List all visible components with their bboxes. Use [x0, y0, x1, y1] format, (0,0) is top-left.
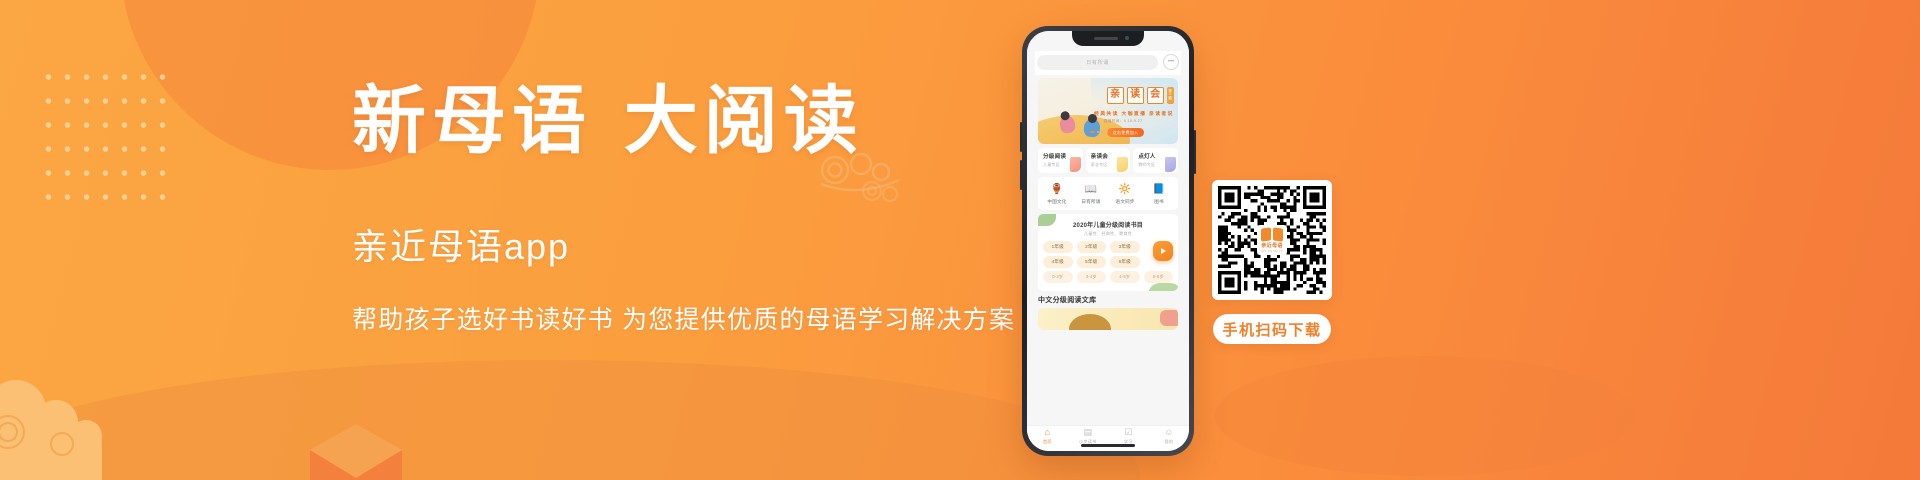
app-search-row: 日有所诵 ••• [1035, 51, 1181, 75]
brand-logo: 亲近母语 QIN JIN MU YU [1257, 225, 1287, 255]
list-icon: ▤ [1083, 428, 1092, 437]
phone-screen: 日有所诵 ••• 亲 读 会 第三期 经典共读 大咖直播 亲读者说 直 [1027, 31, 1189, 451]
checklist-icon: ☑ [1124, 428, 1132, 437]
library-card[interactable] [1038, 308, 1178, 330]
brand-name: 亲近母语 [1261, 242, 1283, 249]
tab-label: 我的 [1164, 439, 1173, 445]
phone-mockup: 日有所诵 ••• 亲 读 会 第三期 经典共读 大咖直播 亲读者说 直 [1022, 26, 1194, 456]
app-banner[interactable]: 亲 读 会 第三期 经典共读 大咖直播 亲读者说 直播时间：9.16-9.27 … [1038, 78, 1178, 144]
category-card-teacher[interactable]: 点灯人 教师专区 [1133, 148, 1178, 173]
grade-tag[interactable]: 5年级 [1077, 256, 1107, 268]
quick-icon-books[interactable]: 📘 图书 [1142, 183, 1176, 205]
decor-dot-grid [36, 62, 172, 210]
category-card-parent-club[interactable]: 亲读会 家长专区 [1086, 148, 1131, 173]
quick-icon-label: 语文同步 [1115, 199, 1134, 205]
tab-home[interactable]: ⌂ 首页 [1027, 428, 1068, 445]
sync-icon: 🔆 [1119, 183, 1132, 196]
age-tag[interactable]: 3-4岁 [1077, 271, 1107, 283]
grade-tag[interactable]: 3年级 [1110, 241, 1140, 253]
quick-icon-row: 🏺 中国文化 📖 日有所诵 🔆 语文同步 📘 图书 [1038, 177, 1178, 210]
banner-char-1: 亲 [1107, 87, 1124, 104]
banner-title: 亲 读 会 第三期 [1107, 87, 1174, 104]
tab-label: 首页 [1043, 439, 1052, 445]
home-icon: ⌂ [1045, 428, 1050, 437]
grade-tag[interactable]: 4年级 [1043, 256, 1073, 268]
age-row: 0-3岁 3-4岁 4-5岁 5-6岁 [1043, 271, 1173, 283]
quick-icon-chinese-culture[interactable]: 🏺 中国文化 [1040, 183, 1074, 205]
hero-description: 帮助孩子选好书读好书 为您提供优质的母语学习解决方案 [352, 300, 1012, 336]
home-indicator [1081, 444, 1135, 447]
person-icon: ☺ [1164, 428, 1173, 437]
book-art-icon [1070, 157, 1081, 172]
library-section: 中文分级阅读文库 [1038, 295, 1178, 330]
library-art-icon [1069, 314, 1111, 330]
age-tag[interactable]: 4-5岁 [1110, 271, 1140, 283]
banner-badge: 第三期 [1167, 87, 1174, 104]
phone-power-button [1194, 130, 1196, 174]
quick-icon-label: 图书 [1154, 199, 1164, 205]
tab-study[interactable]: ☑ 学习 [1108, 428, 1149, 445]
vase-icon: 🏺 [1051, 183, 1064, 196]
grade-tag[interactable]: 2年级 [1077, 241, 1107, 253]
tab-profile[interactable]: ☺ 我的 [1149, 428, 1190, 445]
phone-notch [1072, 31, 1144, 46]
decor-cloud-icon [0, 366, 172, 480]
book-logo-icon [1261, 228, 1283, 241]
brand-pinyin: QIN JIN MU YU [1261, 250, 1283, 253]
decor-phone-shadow [1215, 356, 1635, 476]
hero-subhead: 亲近母语app [352, 218, 1012, 270]
play-icon [1161, 248, 1166, 254]
library-tab-icon [1160, 310, 1178, 326]
quick-icon-label: 中国文化 [1047, 199, 1066, 205]
hero-copy: 新母语 大阅读 亲近母语app 帮助孩子选好书读好书 为您提供优质的母语学习解决… [352, 84, 1012, 336]
banner-date: 直播时间：9.16-9.27 [1104, 119, 1143, 124]
age-tag[interactable]: 0-3岁 [1043, 271, 1073, 283]
phone-speaker [1094, 37, 1118, 40]
category-card-graded-reading[interactable]: 分级阅读 儿童专区 [1038, 148, 1083, 173]
banner-subtitle: 经典共读 大咖直播 亲读者说 [1094, 110, 1174, 117]
age-tag[interactable]: 5-6岁 [1144, 271, 1174, 283]
category-cards: 分级阅读 儿童专区 亲读会 家长专区 点灯人 教师专区 [1038, 148, 1178, 173]
booklist-subtitle: 儿童性、经典性、教育性 [1043, 231, 1173, 237]
bottom-tabbar: ⌂ 首页 ▤ 小步读书 ☑ 学习 ☺ 我的 [1027, 425, 1189, 451]
booklist-section: 2020年儿童分级阅读书目 儿童性、经典性、教育性 1年级 2年级 3年级 4年… [1038, 214, 1178, 291]
qr-code[interactable]: 亲近母语 QIN JIN MU YU [1212, 180, 1332, 300]
decor-envelope-icon [310, 416, 402, 480]
promo-banner: 新母语 大阅读 亲近母语app 帮助孩子选好书读好书 为您提供优质的母语学习解决… [0, 0, 1920, 480]
grade-tag[interactable]: 1年级 [1043, 241, 1073, 253]
play-video-button[interactable] [1153, 241, 1173, 261]
banner-char-3: 会 [1147, 87, 1164, 104]
booklist-title: 2020年儿童分级阅读书目 [1043, 220, 1173, 229]
quick-icon-daily-recite[interactable]: 📖 日有所诵 [1074, 183, 1108, 205]
download-button[interactable]: 手机扫码下载 [1213, 314, 1331, 344]
app-content: 日有所诵 ••• 亲 读 会 第三期 经典共读 大咖直播 亲读者说 直 [1027, 31, 1189, 451]
book-art-icon [1165, 157, 1176, 172]
quick-icon-sync-chinese[interactable]: 🔆 语文同步 [1108, 183, 1142, 205]
page-title: 新母语 大阅读 [352, 84, 1012, 158]
banner-pagination[interactable] [1090, 131, 1108, 133]
book-icon: 📘 [1153, 183, 1166, 196]
phone-camera-icon [1125, 36, 1129, 40]
qr-panel: 亲近母语 QIN JIN MU YU 手机扫码下载 [1212, 180, 1332, 344]
library-title: 中文分级阅读文库 [1038, 295, 1178, 305]
banner-cta-button[interactable]: 点击免费加入 [1107, 128, 1145, 137]
grade-tag[interactable]: 6年级 [1110, 256, 1140, 268]
book-art-icon [1117, 157, 1128, 172]
message-icon[interactable]: ••• [1163, 54, 1179, 70]
book-open-icon: 📖 [1085, 183, 1098, 196]
banner-char-2: 读 [1127, 87, 1144, 104]
tab-reading[interactable]: ▤ 小步读书 [1068, 428, 1109, 445]
grade-tag-grid: 1年级 2年级 3年级 4年级 5年级 6年级 0-3岁 [1043, 241, 1173, 283]
quick-icon-label: 日有所诵 [1081, 199, 1100, 205]
decor-hill [0, 360, 1140, 480]
leaf-decor-icon [1148, 283, 1178, 291]
search-input[interactable]: 日有所诵 [1037, 55, 1158, 70]
